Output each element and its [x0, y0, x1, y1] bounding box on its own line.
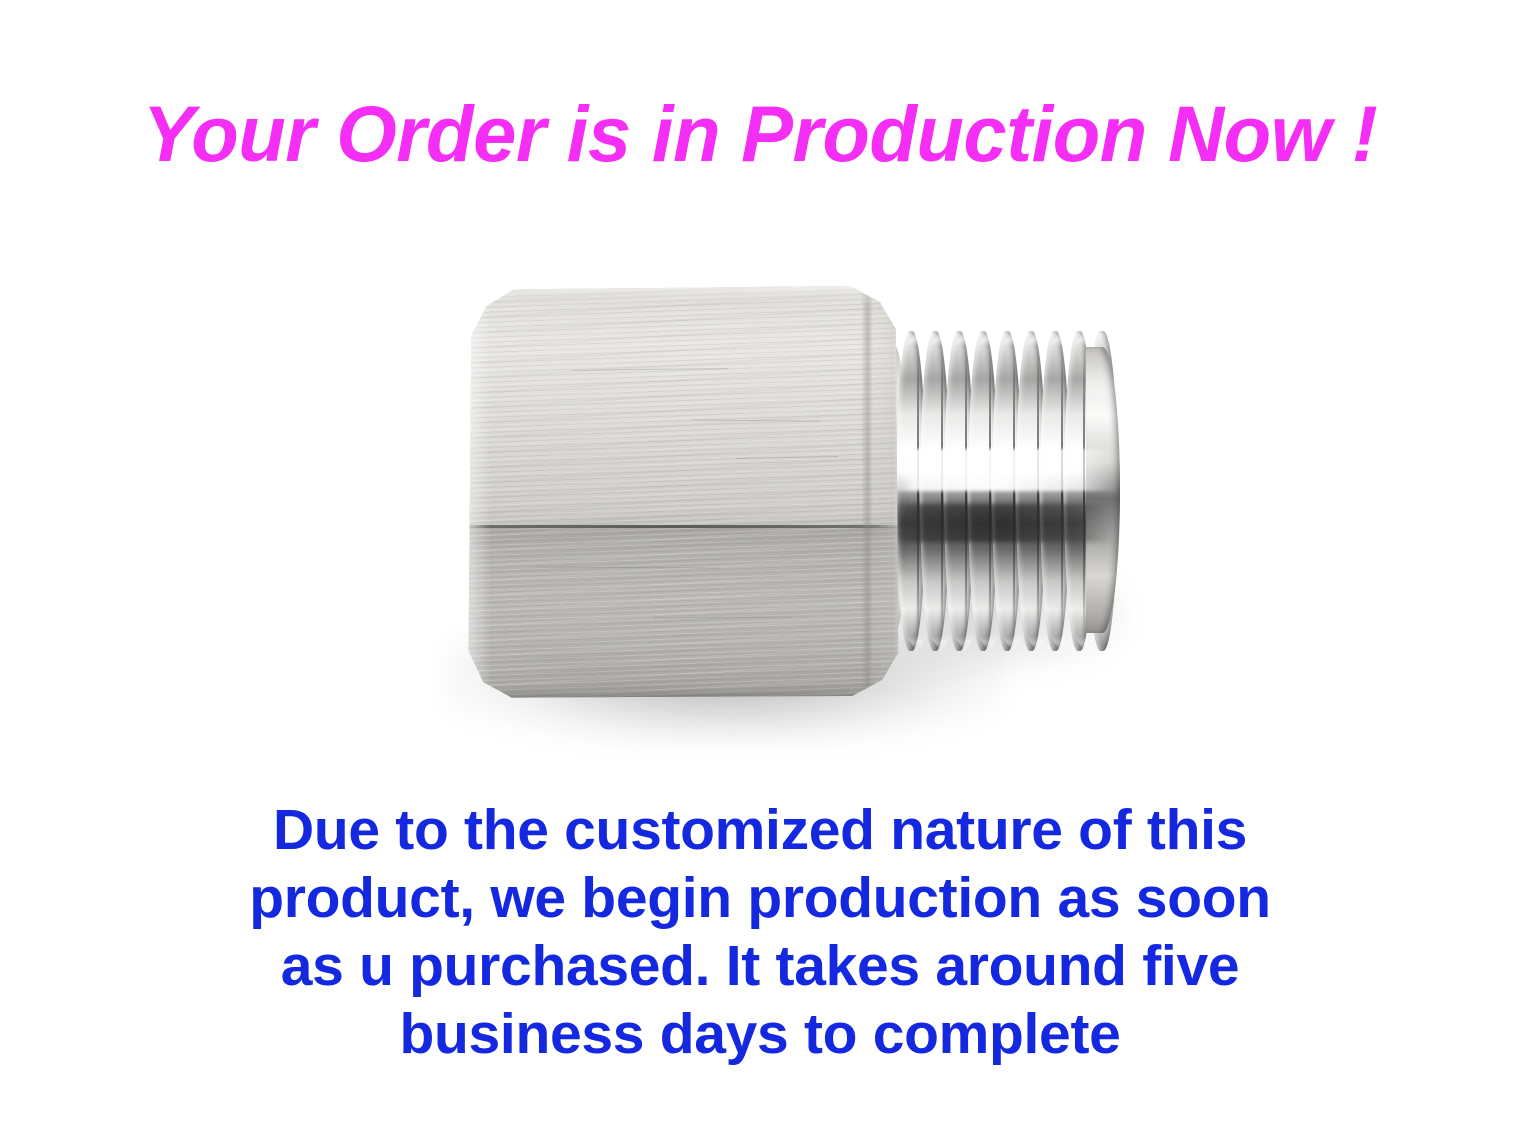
thread-nose-cap — [1086, 347, 1120, 633]
hex-body-surface — [452, 281, 912, 701]
body-paragraph: Due to the customized nature of this pro… — [0, 796, 1520, 1068]
thread-groove — [1013, 344, 1015, 638]
page-title: Your Order is in Production Now ! — [11, 86, 1508, 182]
thread-groove — [941, 344, 943, 638]
body-line: as u purchased. It takes around five — [0, 932, 1520, 1000]
hex-body — [452, 281, 912, 701]
hex-bottom-bevel — [466, 684, 898, 701]
thread-groove — [965, 344, 967, 638]
brushed-texture-coarse — [452, 281, 912, 701]
thread-groove — [1061, 344, 1063, 638]
body-line: product, we begin production as soon — [0, 864, 1520, 932]
thread-groove — [917, 344, 919, 638]
body-line: Due to the customized nature of this — [0, 796, 1520, 864]
thread-groove — [1083, 344, 1085, 638]
thread-groove — [1037, 344, 1039, 638]
hex-left-chamfer — [452, 285, 491, 697]
body-line: business days to complete — [0, 1000, 1520, 1068]
hex-right-corner-seam — [861, 289, 873, 692]
poster-canvas: Your Order is in Production Now ! — [0, 0, 1520, 1140]
hex-facet-edge — [452, 525, 912, 528]
hex-top-bevel — [461, 281, 903, 304]
product-photo — [400, 245, 1160, 765]
thread-groove — [989, 344, 991, 638]
